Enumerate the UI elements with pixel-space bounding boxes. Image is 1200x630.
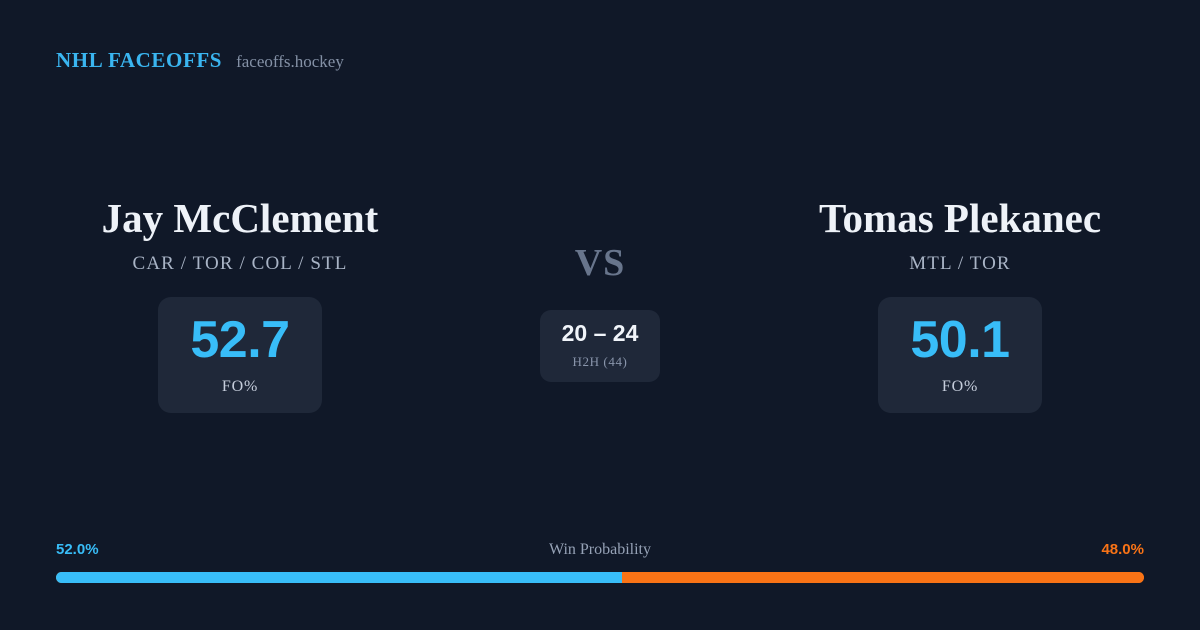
win-probability-bar-right-fill	[622, 572, 1144, 583]
win-probability-left-value: 52.0%	[56, 541, 99, 558]
brand-title: NHL FACEOFFS	[56, 48, 222, 73]
player-right-faceoff-percent: 50.1	[910, 314, 1009, 366]
site-header: NHL FACEOFFS faceoffs.hockey	[56, 48, 344, 73]
player-left-faceoff-percent: 52.7	[190, 314, 289, 366]
faceoff-matchup-card: NHL FACEOFFS faceoffs.hockey Jay McCleme…	[0, 0, 1200, 630]
win-probability-title: Win Probability	[549, 541, 651, 559]
win-probability-labels: 52.0% Win Probability 48.0%	[56, 541, 1144, 561]
player-right-stat-card: 50.1 FO%	[878, 297, 1042, 413]
head-to-head-card: 20 – 24 H2H (44)	[540, 310, 660, 382]
versus-label: VS	[575, 244, 626, 282]
player-right-stat-label: FO%	[942, 378, 978, 396]
player-right-name: Tomas Plekanec	[819, 196, 1101, 240]
player-left-name: Jay McClement	[102, 196, 379, 240]
win-probability-right-value: 48.0%	[1101, 541, 1144, 558]
site-domain: faceoffs.hockey	[236, 52, 344, 72]
head-to-head-score: 20 – 24	[562, 322, 639, 345]
matchup-section: Jay McClement CAR / TOR / COL / STL 52.7…	[0, 196, 1200, 413]
player-left: Jay McClement CAR / TOR / COL / STL 52.7…	[0, 196, 480, 413]
win-probability-bar-left-fill	[56, 572, 622, 583]
head-to-head-label: H2H (44)	[573, 354, 628, 370]
versus-column: VS 20 – 24 H2H (44)	[480, 196, 720, 382]
player-right-teams: MTL / TOR	[909, 253, 1010, 275]
win-probability-bar	[56, 572, 1144, 583]
player-left-stat-card: 52.7 FO%	[158, 297, 322, 413]
player-left-stat-label: FO%	[222, 378, 258, 396]
player-right: Tomas Plekanec MTL / TOR 50.1 FO%	[720, 196, 1200, 413]
win-probability-section: 52.0% Win Probability 48.0%	[56, 541, 1144, 583]
player-left-teams: CAR / TOR / COL / STL	[133, 253, 348, 275]
